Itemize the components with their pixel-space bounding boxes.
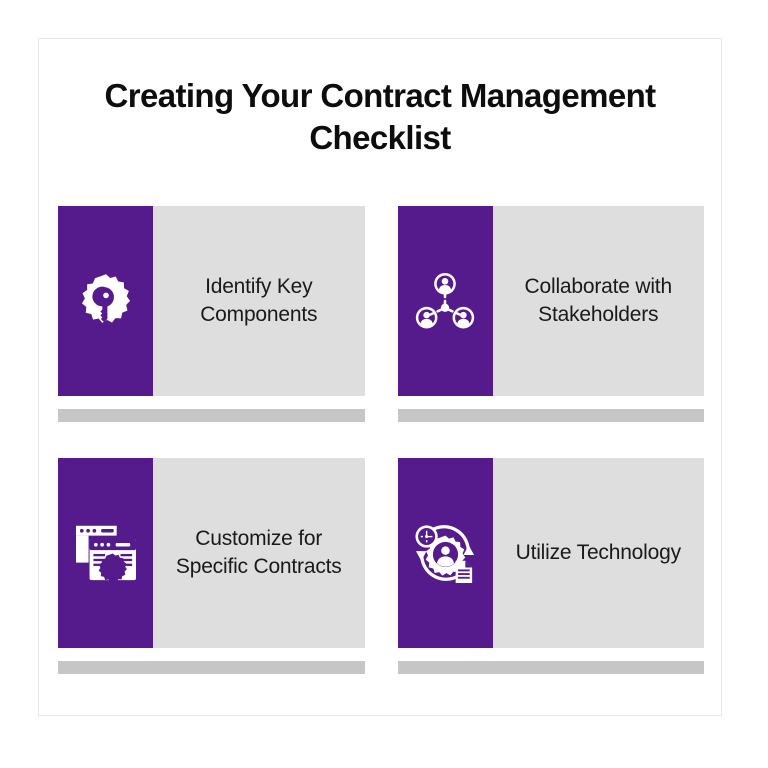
card-shadow-bar bbox=[398, 661, 705, 674]
card-body: Identify Key Components bbox=[58, 206, 365, 396]
card-collaborate-with-stakeholders[interactable]: Collaborate with Stakeholders bbox=[398, 206, 705, 422]
card-shadow-bar bbox=[398, 409, 705, 422]
card-customize-for-specific-contracts[interactable]: Customize for Specific Contracts bbox=[58, 458, 365, 674]
stakeholder-network-icon bbox=[414, 272, 476, 330]
card-body: Utilize Technology bbox=[398, 458, 705, 648]
card-icon-panel bbox=[398, 458, 493, 648]
card-label: Customize for Specific Contracts bbox=[165, 525, 353, 581]
card-utilize-technology[interactable]: Utilize Technology bbox=[398, 458, 705, 674]
card-shadow-bar bbox=[58, 409, 365, 422]
card-identify-key-components[interactable]: Identify Key Components bbox=[58, 206, 365, 422]
card-icon-panel bbox=[58, 458, 153, 648]
card-label-panel: Customize for Specific Contracts bbox=[153, 458, 365, 648]
card-label: Identify Key Components bbox=[165, 273, 353, 329]
card-label: Collaborate with Stakeholders bbox=[505, 273, 693, 329]
page-title: Creating Your Contract Management Checkl… bbox=[39, 39, 721, 159]
card-icon-panel bbox=[398, 206, 493, 396]
browser-windows-gear-icon bbox=[74, 523, 138, 583]
card-shadow-bar bbox=[58, 661, 365, 674]
card-label-panel: Collaborate with Stakeholders bbox=[493, 206, 705, 396]
card-body: Customize for Specific Contracts bbox=[58, 458, 365, 648]
card-label-panel: Identify Key Components bbox=[153, 206, 365, 396]
card-grid: Identify Key Components bbox=[58, 206, 704, 674]
card-icon-panel bbox=[58, 206, 153, 396]
gear-key-icon bbox=[76, 271, 136, 331]
infographic-frame: Creating Your Contract Management Checkl… bbox=[38, 38, 722, 716]
gear-person-clock-document-icon bbox=[413, 522, 477, 584]
card-body: Collaborate with Stakeholders bbox=[398, 206, 705, 396]
card-label-panel: Utilize Technology bbox=[493, 458, 705, 648]
card-label: Utilize Technology bbox=[516, 539, 681, 567]
